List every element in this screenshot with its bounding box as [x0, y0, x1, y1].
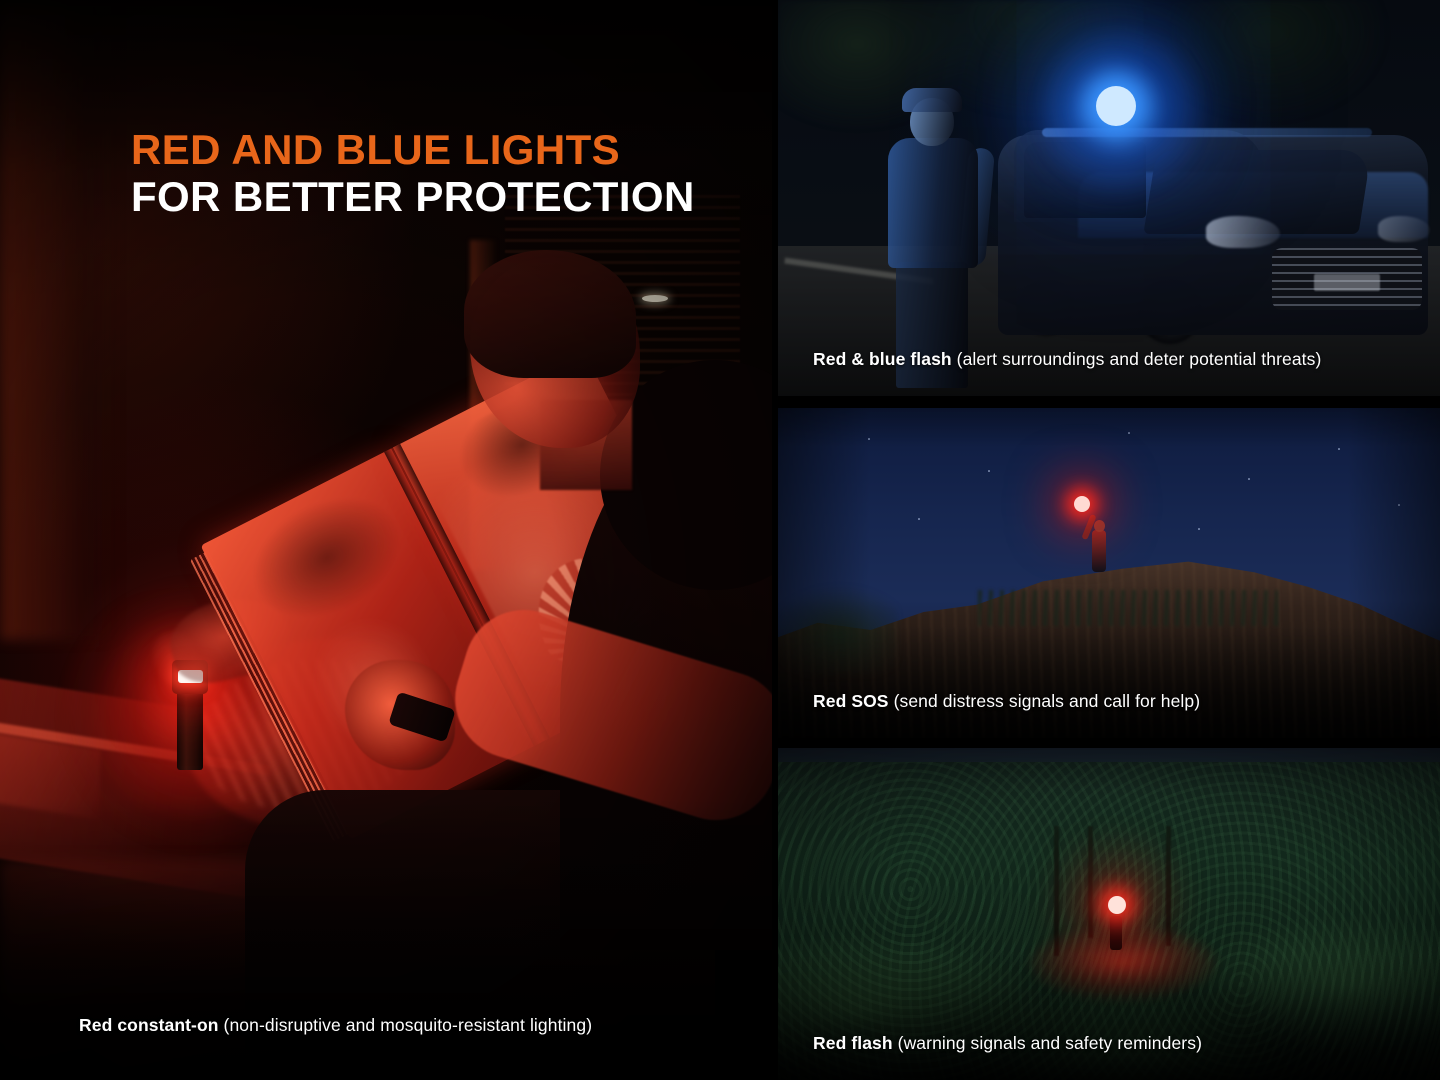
star — [918, 518, 920, 520]
star — [1128, 432, 1130, 434]
caption-red-flash: Red flash (warning signals and safety re… — [813, 1033, 1202, 1054]
wall-glow — [0, 0, 120, 640]
license-plate — [1314, 274, 1380, 291]
star — [868, 438, 870, 440]
star — [1338, 448, 1340, 450]
poster-canvas: Red & blue flash (alert surroundings and… — [0, 0, 1440, 1080]
caption-red-constant-on: Red constant-on (non-disruptive and mosq… — [79, 1015, 592, 1036]
caption-red-sos: Red SOS (send distress signals and call … — [813, 691, 1200, 712]
caption-mode-label: Red & blue flash — [813, 349, 952, 369]
headline-line-2: FOR BETTER PROTECTION — [131, 173, 695, 220]
caption-mode-label: Red flash — [813, 1033, 893, 1053]
caption-description: (non-disruptive and mosquito-resistant l… — [224, 1015, 593, 1035]
headline-line-1: RED AND BLUE LIGHTS — [131, 126, 695, 173]
caption-mode-label: Red SOS — [813, 691, 889, 711]
star — [1398, 504, 1400, 506]
panel-red-flash: Red flash (warning signals and safety re… — [778, 748, 1440, 1080]
headline: RED AND BLUE LIGHTS FOR BETTER PROTECTIO… — [131, 126, 695, 221]
caption-red-blue-flash: Red & blue flash (alert surroundings and… — [813, 349, 1321, 370]
star — [1248, 478, 1250, 480]
ridge-scrub — [978, 590, 1278, 626]
red-light-clearing-glow — [1028, 924, 1218, 1002]
red-flash-light — [1108, 896, 1126, 914]
blind-highlight — [642, 295, 668, 302]
caption-description: (send distress signals and call for help… — [894, 691, 1201, 711]
person-torso — [888, 138, 978, 268]
blue-beacon-light — [1096, 86, 1136, 126]
panel-red-sos: Red SOS (send distress signals and call … — [778, 408, 1440, 738]
star — [988, 470, 990, 472]
star — [1198, 528, 1200, 530]
lantern-body — [177, 690, 203, 770]
foreground-bush — [778, 586, 898, 676]
car-headlight-left — [1206, 216, 1280, 248]
caption-mode-label: Red constant-on — [79, 1015, 219, 1035]
person-cap — [902, 88, 962, 112]
person-head — [1094, 520, 1105, 532]
caption-description: (alert surroundings and deter potential … — [957, 349, 1322, 369]
car-headlight-right — [1378, 216, 1430, 242]
panel-red-blue-flash: Red & blue flash (alert surroundings and… — [778, 0, 1440, 396]
caption-description: (warning signals and safety reminders) — [898, 1033, 1202, 1053]
red-sos-light — [1074, 496, 1090, 512]
person-silhouette — [1110, 916, 1122, 950]
tree-trunk — [1088, 826, 1093, 938]
person-hair — [464, 250, 636, 378]
person-torso — [1092, 530, 1106, 572]
